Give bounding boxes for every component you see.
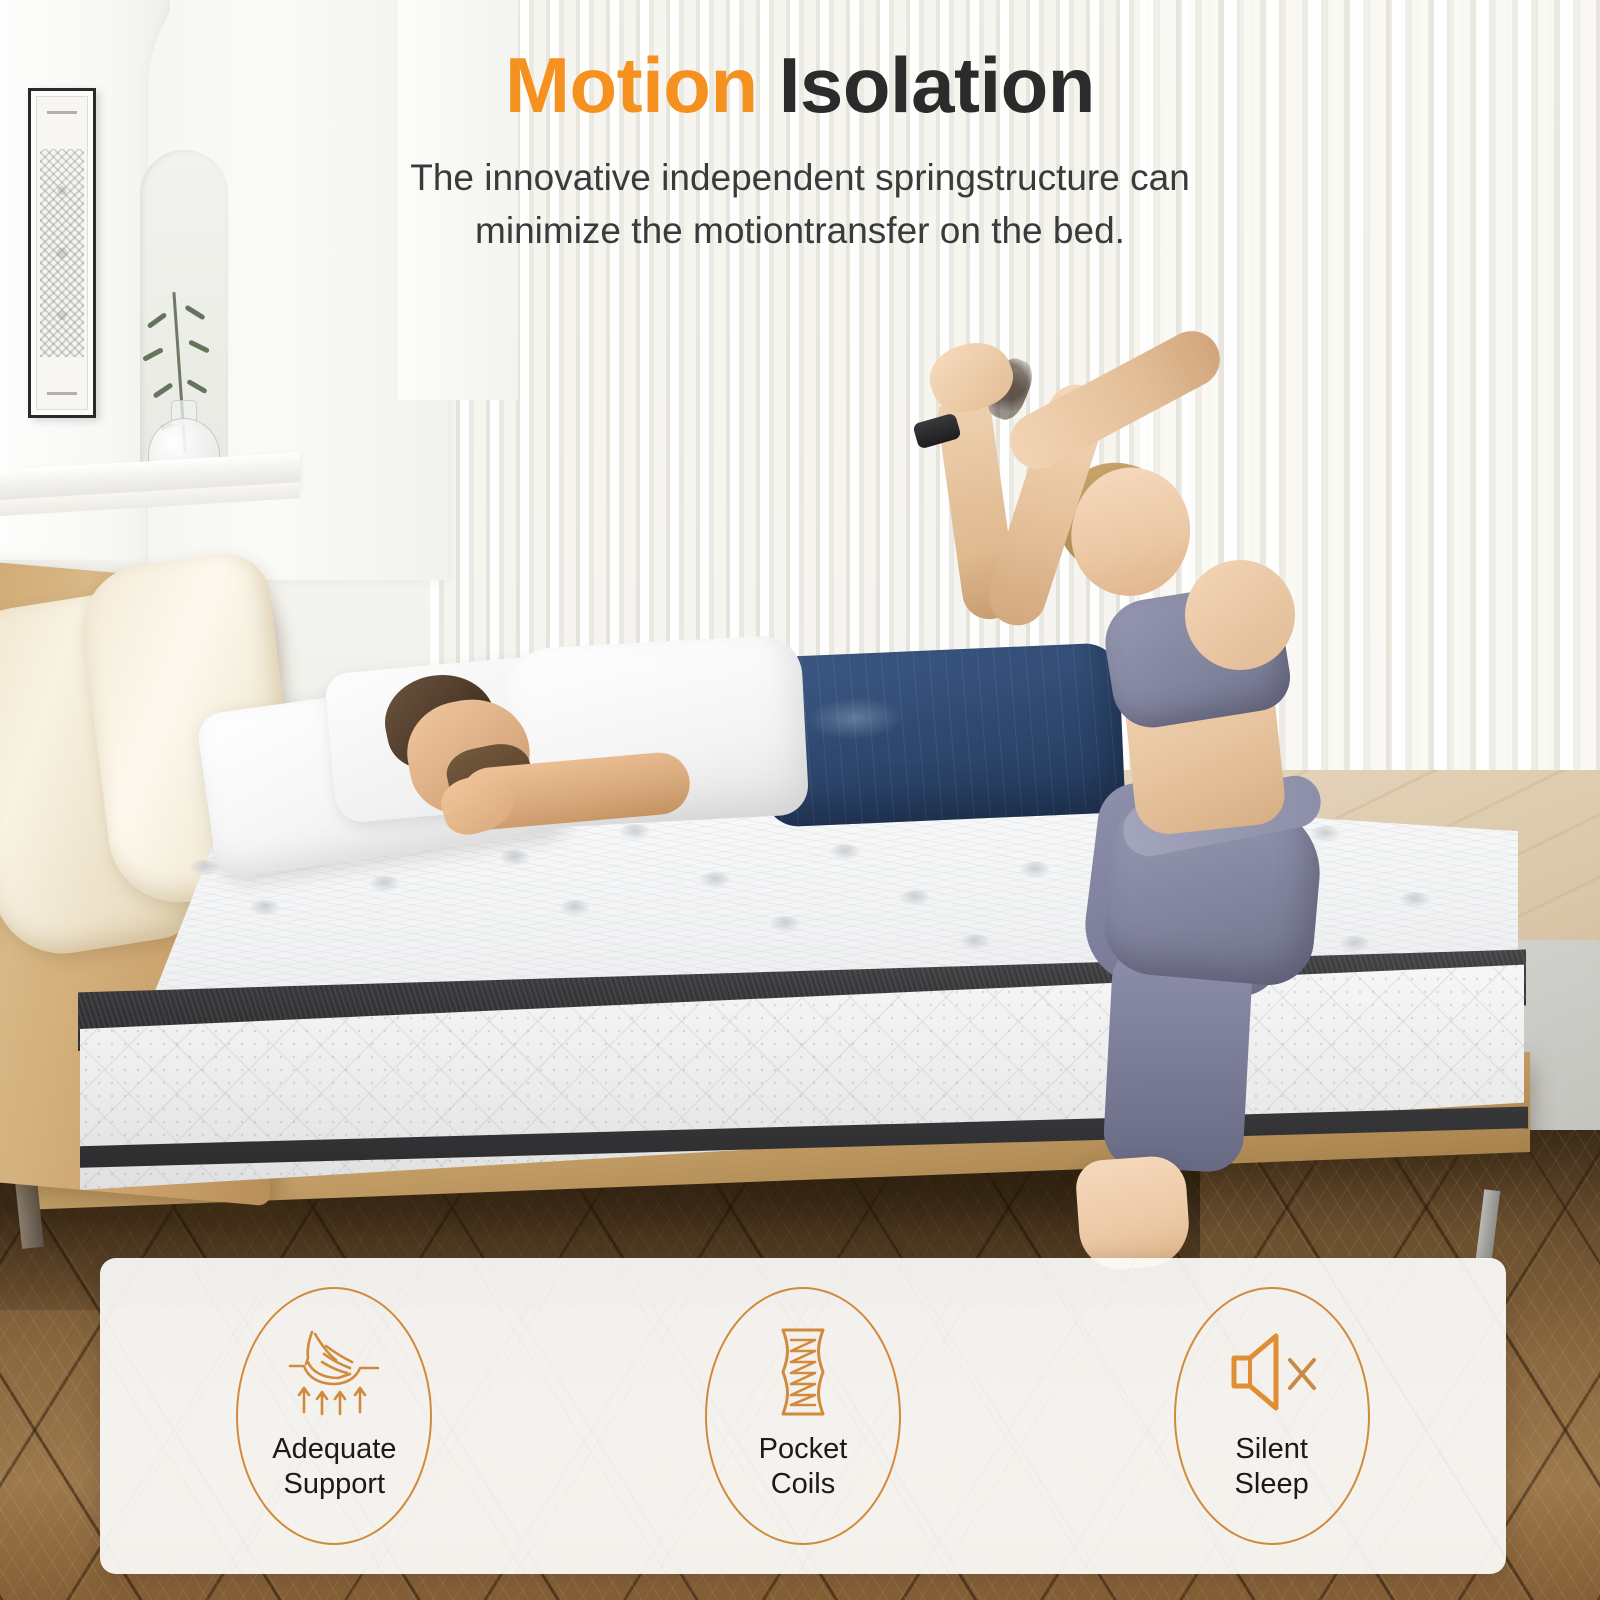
mattress-tuft [500,850,530,866]
mattress-tuft [190,860,220,876]
mattress-tuft [1310,826,1340,842]
feature-list: Adequate Support Pocket Coils [100,1258,1506,1574]
mattress-tuft [960,934,990,950]
subtitle-line-2: minimize the motiontransfer on the bed. [260,205,1340,258]
feature-silent-sleep[interactable]: Silent Sleep [1162,1287,1382,1545]
man-jeans [758,642,1125,828]
mattress-tuft [1340,936,1370,952]
mattress-tuft [770,916,800,932]
mattress-tuft [370,876,400,892]
mattress-tuft [900,890,930,906]
feature-pocket-coils[interactable]: Pocket Coils [693,1287,913,1545]
feature-adequate-support[interactable]: Adequate Support [224,1287,444,1545]
product-marketing-image: Motion Isolation The innovative independ… [0,0,1600,1600]
page-title: Motion Isolation [0,46,1600,126]
mattress-tuft [1020,862,1050,878]
subtitle-line-1: The innovative independent springstructu… [260,152,1340,205]
mattress-tuft [1400,892,1430,908]
mattress-tuft [620,824,650,840]
title-highlight: Motion [505,41,758,129]
hand-support-icon [282,1324,386,1420]
feature-label: Adequate Support [272,1432,396,1503]
muted-speaker-icon [1220,1324,1324,1420]
woman-foot [1074,1154,1191,1271]
feature-panel: Adequate Support Pocket Coils [100,1258,1506,1574]
page-subtitle: The innovative independent springstructu… [260,152,1340,257]
mattress-tuft [830,844,860,860]
mattress-tuft [250,900,280,916]
mattress-tuft [560,900,590,916]
pocket-coil-icon [751,1324,855,1420]
title-rest: Isolation [779,41,1095,129]
mattress-tuft [700,872,730,888]
feature-label: Pocket Coils [759,1432,848,1503]
feature-label: Silent Sleep [1235,1432,1309,1503]
